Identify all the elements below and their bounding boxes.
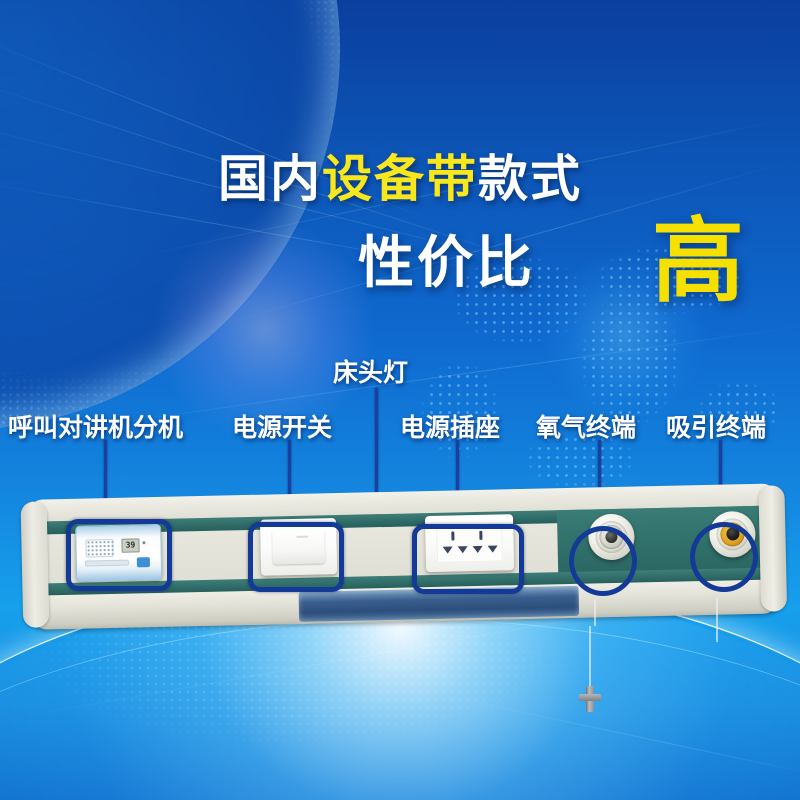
cord-weight-handle[interactable] xyxy=(586,686,594,712)
headline-part-1: 国内 xyxy=(218,150,322,208)
highlight-circle-suction xyxy=(690,522,758,592)
callout-label-suction: 吸引终端 xyxy=(666,415,766,440)
highlight-box-intercom xyxy=(66,519,172,591)
highlight-box-power-socket xyxy=(412,524,524,594)
callout-label-bed-lamp: 床头灯 xyxy=(333,360,408,385)
highlight-circle-oxygen xyxy=(569,526,637,596)
promo-banner: 国内设备带款式 性价比 高 呼叫对讲机分机电源开关床头灯电源插座氧气终端吸引终端… xyxy=(0,0,800,800)
panel-end-cap-left xyxy=(21,501,50,628)
callout-label-oxygen: 氧气终端 xyxy=(536,415,636,440)
highlight-box-power-switch xyxy=(248,522,344,592)
suction-terminal-cord xyxy=(716,598,718,642)
headline-row-2: 性价比 高 xyxy=(0,230,800,316)
callout-label-intercom: 呼叫对讲机分机 xyxy=(8,415,183,440)
headline-part-3: 款式 xyxy=(478,150,582,208)
oxygen-terminal-cord xyxy=(594,600,596,626)
headline-part-2: 设备带 xyxy=(322,150,478,208)
panel-end-cap-right xyxy=(758,485,787,612)
callout-label-power-switch: 电源开关 xyxy=(232,415,332,440)
headline-line-1: 国内设备带款式 xyxy=(0,154,800,204)
headline-block: 国内设备带款式 性价比 高 xyxy=(0,70,800,240)
headline-big-word: 高 xyxy=(652,216,744,308)
headline-line-2: 性价比 xyxy=(358,236,535,292)
callout-label-power-socket: 电源插座 xyxy=(400,415,500,440)
